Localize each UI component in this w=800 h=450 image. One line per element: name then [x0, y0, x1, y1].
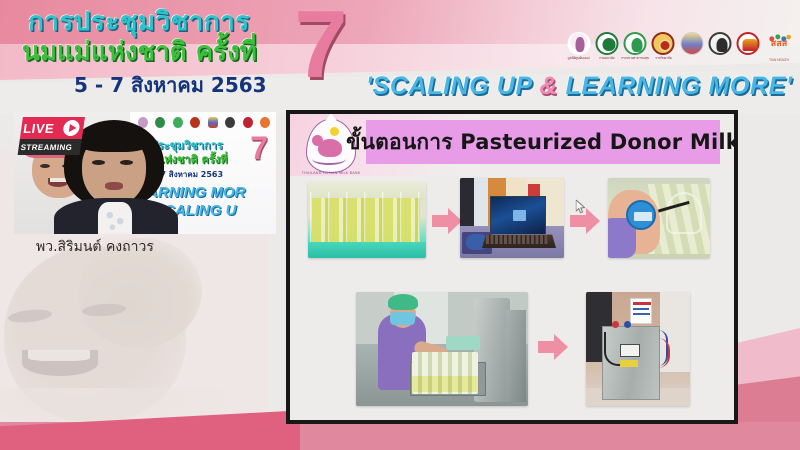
milk-bank-logo-caption: THAILAND HUMAN MILK BANK	[298, 171, 364, 175]
tagline-ampersand: &	[539, 72, 558, 100]
university-seal-logo	[707, 31, 732, 61]
process-row-top	[300, 176, 732, 270]
photo-pasteurizer-machine	[586, 292, 690, 406]
play-icon	[62, 120, 80, 136]
red-seal-logo	[736, 31, 761, 61]
tagline-prefix: 'SCALING UP	[366, 72, 539, 100]
photo-nurse-loading-bottles	[356, 292, 528, 406]
live-label: LIVE	[20, 121, 55, 136]
broadcast-screen: การประชุมวิชาการ นมแม่แห่งชาติ ครั้งที่ …	[0, 0, 800, 450]
health-department-logo: กระทรวงสาธารณสุข	[623, 31, 648, 61]
tagline-suffix: LEARNING MORE'	[558, 72, 792, 100]
poster-edition-number: 7	[250, 132, 268, 164]
arrow-right-icon	[432, 208, 462, 234]
speaker-name: พว.สิริมนต์ คงถาวร	[36, 236, 256, 258]
photo-laptop-data-entry	[460, 178, 564, 258]
mouse-cursor-icon	[576, 200, 586, 215]
edition-number: 7	[286, 0, 356, 94]
arrow-right-icon	[538, 334, 568, 360]
live-streaming-badge: LIVE STREAMING	[17, 117, 85, 159]
photo-milk-bottle-racks	[308, 182, 426, 258]
ministry-public-health-logo: กรมอนามัย	[594, 31, 619, 61]
presentation-slide[interactable]: THAILAND HUMAN MILK BANK ขั้นตอนการ Past…	[286, 110, 738, 424]
thaihealth-sss-logo: สสส THAI HEALTH	[764, 31, 794, 61]
organization-logos: มูลนิธิศูนย์นมแม่ กรมอนามัย กระทรวงสาธาร…	[566, 26, 794, 66]
photo-hand-thermometer	[608, 178, 710, 258]
royal-college-logo: ราชวิทยาลัย	[651, 31, 676, 61]
live-video-feed[interactable]: การประชุมวิชาการ นมแม่แห่งชาติ ครั้งที่ …	[14, 112, 276, 234]
streaming-label: STREAMING	[18, 143, 73, 152]
royal-patronage-logo: มูลนิธิศูนย์นมแม่	[566, 31, 591, 61]
conference-title-line2: นมแม่แห่งชาติ ครั้งที่	[22, 34, 292, 70]
process-row-bottom	[300, 282, 732, 410]
conference-date: 5 - 7 สิงหาคม 2563	[74, 70, 294, 100]
child-watermark	[0, 238, 246, 428]
royal-emblem-logo	[679, 31, 704, 61]
slide-title: ขั้นตอนการ Pasteurized Donor Milk	[366, 120, 720, 164]
conference-tagline: 'SCALING UP & LEARNING MORE'	[366, 70, 786, 102]
sss-mark: สสส	[764, 40, 794, 49]
